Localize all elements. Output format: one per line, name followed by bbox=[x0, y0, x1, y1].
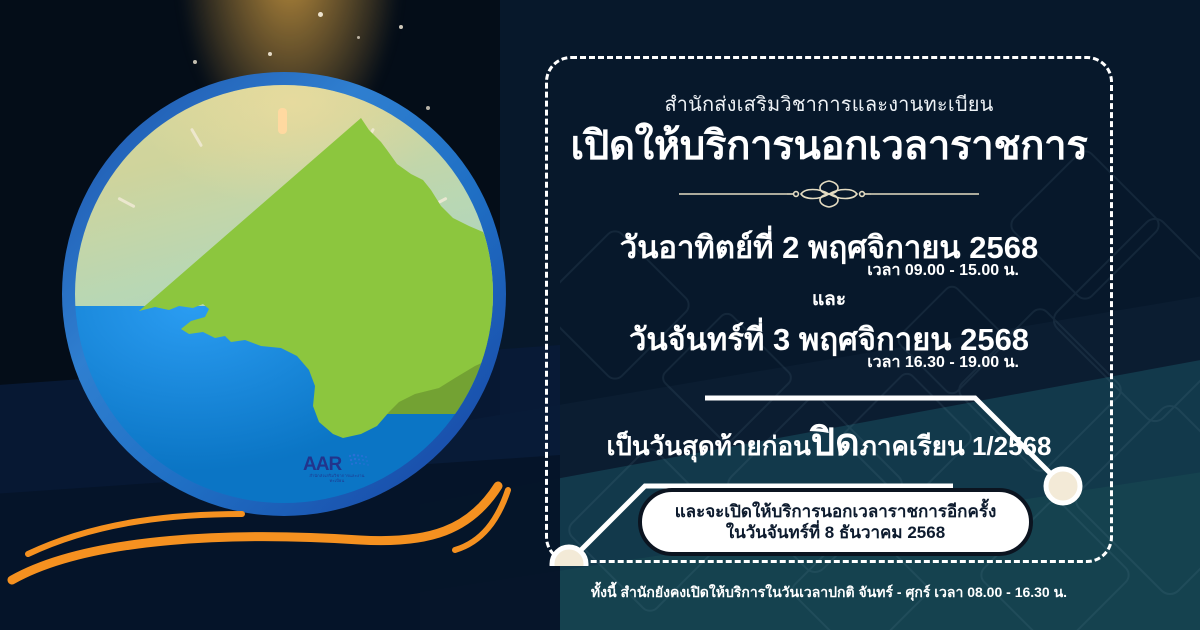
conjunction-label: และ bbox=[545, 284, 1113, 314]
reopen-line-1: และจะเปิดให้บริการนอกเวลาราชการอีกครั้ง bbox=[675, 502, 997, 522]
reopen-line-2: ในวันจันทร์ที่ 8 ธันวาคม 2568 bbox=[726, 523, 945, 543]
earth-americas-landmass bbox=[75, 85, 493, 503]
globe-illustration: AAR สำนักส่งเสริมวิชาการและงานทะเบียน bbox=[62, 72, 506, 516]
ornament-divider-icon bbox=[679, 177, 979, 211]
reopen-notice-pill: และจะเปิดให้บริการนอกเวลาราชการอีกครั้ง … bbox=[638, 488, 1033, 556]
last-day-prefix: เป็นวันสุดท้ายก่อน bbox=[607, 426, 811, 467]
logo-halftone-dots bbox=[347, 453, 369, 469]
announcement-card: สำนักส่งเสริมวิชาการและงานทะเบียน เปิดให… bbox=[545, 56, 1113, 563]
service-time-2: เวลา 16.30 - 19.00 น. bbox=[545, 350, 1113, 375]
footnote: ทั้งนี้ สำนักยังคงเปิดให้บริการในวันเวลา… bbox=[545, 582, 1113, 604]
last-day-notice: เป็นวันสุดท้ายก่อนปิดภาคเรียน 1/2568 bbox=[545, 424, 1113, 467]
last-day-emphasis: ปิด bbox=[811, 424, 860, 462]
service-time-1: เวลา 09.00 - 15.00 น. bbox=[545, 258, 1113, 283]
orange-swoosh-decoration bbox=[0, 470, 540, 610]
connector-node-right bbox=[1046, 469, 1080, 503]
connector-node-left bbox=[552, 547, 586, 566]
globe-body: AAR สำนักส่งเสริมวิชาการและงานทะเบียน bbox=[75, 85, 493, 503]
banner-canvas: AAR สำนักส่งเสริมวิชาการและงานทะเบียน สำ… bbox=[0, 0, 1200, 630]
headline: เปิดให้บริการนอกเวลาราชการ bbox=[545, 113, 1113, 177]
last-day-suffix: ภาคเรียน 1/2568 bbox=[860, 426, 1052, 467]
